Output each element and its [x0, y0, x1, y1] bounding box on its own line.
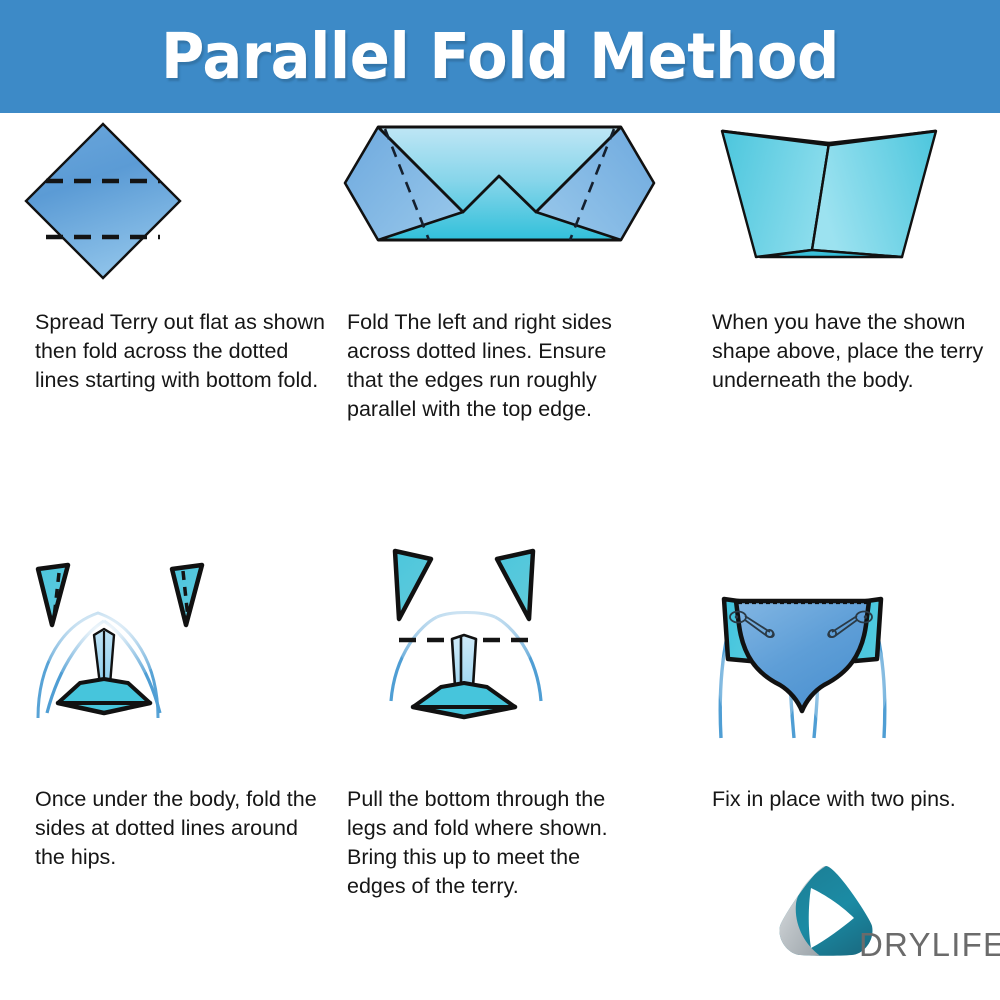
- step-2-figure: [333, 113, 666, 303]
- pinned-terry-diagram: [666, 513, 999, 763]
- step-6: Fix in place with two pins.: [666, 513, 999, 763]
- page-title: Parallel Fold Method: [30, 0, 970, 113]
- step-4-figure: [0, 513, 333, 763]
- step-3: When you have the shown shape above, pla…: [666, 113, 999, 303]
- step-5-caption: Pull the bottom through the legs and fol…: [347, 785, 637, 901]
- logo-wordmark: DRYLIFE: [859, 926, 1000, 964]
- step-6-figure: [666, 513, 999, 763]
- step-2-caption: Fold The left and right sides across dot…: [347, 308, 637, 424]
- step-4: Once under the body, fold the sides at d…: [0, 513, 333, 763]
- terry-under-body-diagram: [0, 513, 333, 763]
- pull-through-legs-diagram: [333, 513, 666, 763]
- step-1: Spread Terry out flat as shown then fold…: [0, 113, 333, 303]
- step-1-caption: Spread Terry out flat as shown then fold…: [35, 308, 325, 395]
- tapered-pad-diagram: [666, 113, 999, 303]
- step-6-caption: Fix in place with two pins.: [712, 785, 994, 814]
- step-3-caption: When you have the shown shape above, pla…: [712, 308, 994, 395]
- header-banner: Parallel Fold Method: [0, 0, 1000, 113]
- step-4-caption: Once under the body, fold the sides at d…: [35, 785, 325, 872]
- diamond-flat-terry-diagram: [0, 113, 333, 303]
- step-5: Pull the bottom through the legs and fol…: [333, 513, 666, 763]
- step-2: Fold The left and right sides across dot…: [333, 113, 666, 303]
- step-1-figure: [0, 113, 333, 303]
- brand-logo: DRYLIFE: [766, 858, 991, 968]
- step-5-figure: [333, 513, 666, 763]
- parallel-fold-hexagon-diagram: [333, 113, 666, 303]
- step-3-figure: [666, 113, 999, 303]
